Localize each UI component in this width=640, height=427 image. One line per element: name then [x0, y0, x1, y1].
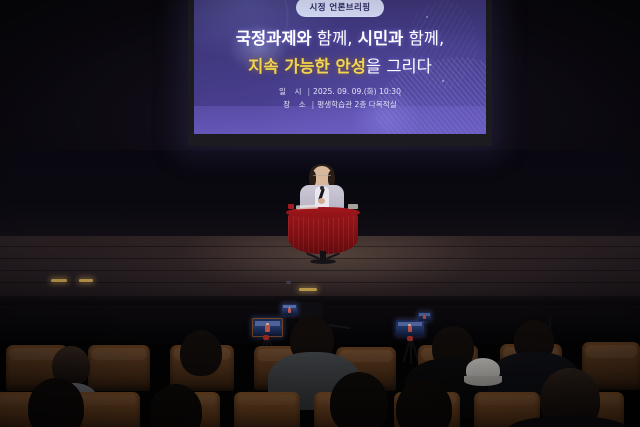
microphone-head-icon	[320, 186, 324, 190]
monitor-mount	[407, 336, 413, 341]
table-documents	[296, 205, 318, 210]
camera-lcd-monitor[interactable]	[418, 312, 431, 321]
cap-brim	[464, 376, 502, 386]
speaker-hand	[318, 198, 325, 204]
table-object	[288, 204, 294, 209]
meta-separator: |	[307, 87, 310, 96]
photo-canvas: 시정 언론브리핑 국정과제와 함께, 시민과 함께, 지속 가능한 안성을 그리…	[0, 0, 640, 427]
seat[interactable]	[234, 392, 300, 427]
screen-meta-row-datetime: 일 시|2025. 09. 09.(화) 10:30	[279, 86, 401, 99]
projection-screen: 시정 언론브리핑 국정과제와 함께, 시민과 함께, 지속 가능한 안성을 그리…	[194, 0, 486, 134]
monitor-mount	[263, 335, 269, 340]
meta-value: 2025. 09. 09.(화) 10:30	[313, 87, 401, 96]
meta-value: 평생학습관 2층 다목적실	[317, 100, 397, 109]
screen-headline-line-1: 국정과제와 함께, 시민과 함께,	[236, 25, 444, 49]
headline-segment-gold: 지속 가능한 안성	[248, 57, 366, 76]
headline-segment-bold: 국정과제와	[236, 29, 312, 48]
seat[interactable]	[88, 345, 150, 391]
meta-key: 장 소	[283, 100, 308, 109]
camera-lcd-monitor[interactable]	[396, 320, 424, 336]
screen-headline-line-2: 지속 가능한 안성을 그리다	[248, 53, 432, 77]
headline-segment: 함께,	[312, 29, 358, 48]
floor-light-strip	[51, 279, 67, 282]
briefing-table	[286, 207, 360, 260]
screen-meta-row-location: 장 소|평생학습관 2층 다목적실	[279, 99, 401, 112]
speaker-glasses	[313, 175, 331, 181]
table-object	[348, 204, 358, 209]
headline-segment-bold: 시민과	[358, 29, 404, 48]
screen-badge: 시정 언론브리핑	[296, 0, 385, 17]
floor-light-strip	[79, 279, 93, 282]
meta-separator: |	[312, 100, 315, 109]
screen-meta-block: 일 시|2025. 09. 09.(화) 10:30 장 소|평생학습관 2층 …	[279, 86, 401, 111]
table-base	[310, 259, 336, 264]
audience-head	[330, 372, 388, 427]
projection-screen-frame: 시정 언론브리핑 국정과제와 함께, 시민과 함께, 지속 가능한 안성을 그리…	[188, 0, 492, 146]
video-camera-body	[296, 302, 322, 317]
meta-key: 일 시	[279, 87, 304, 96]
headline-segment: 을 그리다	[366, 57, 432, 76]
audience-head	[180, 330, 222, 376]
camera-lcd-monitor[interactable]	[282, 304, 297, 315]
floor-light-strip	[299, 288, 317, 291]
headline-segment: 함께,	[403, 29, 444, 48]
floor-reflection	[286, 281, 291, 284]
table-skirt	[288, 212, 358, 254]
